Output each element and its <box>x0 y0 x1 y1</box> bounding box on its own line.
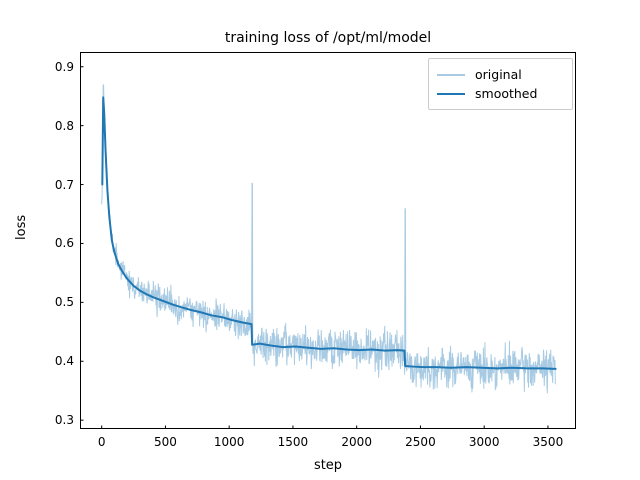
x-tick-label: 3000 <box>469 435 500 449</box>
y-tick-label: 0.9 <box>34 60 74 74</box>
x-tick-label: 2500 <box>405 435 436 449</box>
x-tick-label: 3500 <box>533 435 564 449</box>
x-tick-label: 1000 <box>214 435 245 449</box>
legend-label-smoothed: smoothed <box>475 86 537 101</box>
legend-item-smoothed: smoothed <box>437 84 564 103</box>
y-tick-label: 0.7 <box>34 178 74 192</box>
y-tick-label: 0.5 <box>34 295 74 309</box>
figure-canvas: training loss of /opt/ml/model loss step… <box>0 0 640 480</box>
legend-item-original: original <box>437 65 564 84</box>
x-axis-label: step <box>80 458 576 473</box>
y-tick-label: 0.8 <box>34 119 74 133</box>
y-tick-label: 0.6 <box>34 236 74 250</box>
x-tick-label: 2000 <box>341 435 372 449</box>
x-tick-label: 1500 <box>278 435 309 449</box>
legend: original smoothed <box>428 58 573 110</box>
x-tick-label: 500 <box>154 435 177 449</box>
legend-swatch-smoothed <box>437 93 465 95</box>
legend-swatch-original <box>437 74 465 76</box>
legend-label-original: original <box>475 67 522 82</box>
y-axis-label: loss <box>14 215 29 240</box>
x-tick-label: 0 <box>98 435 106 449</box>
chart-title: training loss of /opt/ml/model <box>80 30 576 46</box>
y-tick-label: 0.3 <box>34 413 74 427</box>
y-tick-label: 0.4 <box>34 354 74 368</box>
